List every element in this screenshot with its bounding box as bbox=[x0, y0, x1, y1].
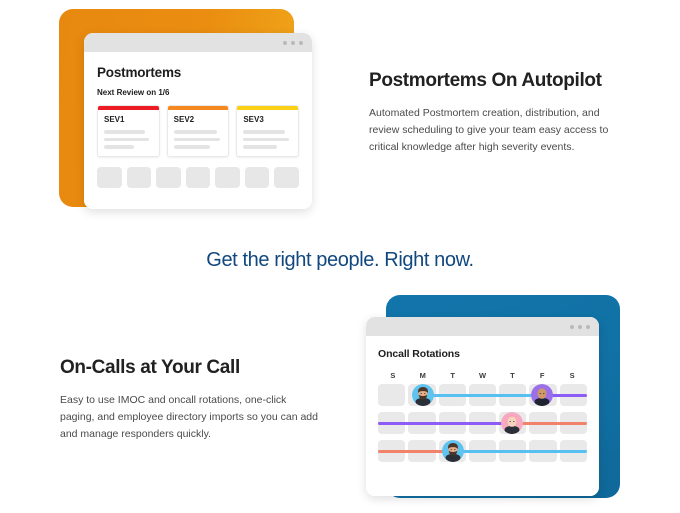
postmortem-tile[interactable] bbox=[186, 167, 211, 188]
severity-placeholder-lines-sev3 bbox=[237, 130, 298, 156]
window-dots-icon bbox=[570, 325, 590, 329]
rotation-bar-1-1[interactable] bbox=[424, 394, 541, 398]
postmortem-tile[interactable] bbox=[156, 167, 181, 188]
severity-label-sev2: SEV2 bbox=[168, 110, 229, 126]
oncall-cell[interactable] bbox=[378, 384, 405, 406]
postmortems-tile-row bbox=[97, 167, 299, 190]
window-chrome-bar bbox=[84, 33, 312, 52]
oncall-day-label-1: M bbox=[408, 371, 438, 380]
severity-column-list: SEV1 SEV2 bbox=[97, 105, 299, 157]
severity-placeholder-lines-sev2 bbox=[168, 130, 229, 156]
postmortems-heading: Postmortems On Autopilot bbox=[369, 70, 619, 93]
postmortems-window-body: Postmortems Next Review on 1/6 SEV1 bbox=[84, 52, 312, 209]
severity-card-sev2[interactable]: SEV2 bbox=[167, 105, 230, 157]
postmortem-tile[interactable] bbox=[127, 167, 152, 188]
avatar-beard-blue[interactable] bbox=[412, 384, 434, 406]
window-dots-icon bbox=[283, 41, 303, 45]
rotation-bar-2-2[interactable] bbox=[512, 422, 587, 426]
oncall-day-label-3: W bbox=[468, 371, 498, 380]
section-headline: Get the right people. Right now. bbox=[0, 249, 680, 272]
severity-card-sev1[interactable]: SEV1 bbox=[97, 105, 160, 157]
oncall-heading: On-Calls at Your Call bbox=[60, 357, 318, 380]
postmortems-window-mock: Postmortems Next Review on 1/6 SEV1 bbox=[84, 33, 312, 209]
oncall-copy-block: On-Calls at Your Call Easy to use IMOC a… bbox=[60, 357, 318, 443]
severity-label-sev1: SEV1 bbox=[98, 110, 159, 126]
window-chrome-bar bbox=[366, 317, 599, 336]
postmortem-tile[interactable] bbox=[245, 167, 270, 188]
postmortem-tile[interactable] bbox=[215, 167, 240, 188]
oncall-day-label-4: T bbox=[497, 371, 527, 380]
oncall-day-header-row: SMTWTFS bbox=[378, 371, 587, 380]
rotation-row-1 bbox=[378, 384, 587, 406]
oncall-day-label-0: S bbox=[378, 371, 408, 380]
postmortems-copy-block: Postmortems On Autopilot Automated Postm… bbox=[369, 70, 619, 156]
avatar-beard-blue[interactable] bbox=[442, 440, 464, 462]
severity-placeholder-lines-sev1 bbox=[98, 130, 159, 156]
severity-card-sev3[interactable]: SEV3 bbox=[236, 105, 299, 157]
rotation-row-3 bbox=[378, 440, 587, 462]
severity-label-sev3: SEV3 bbox=[237, 110, 298, 126]
rotation-row-2 bbox=[378, 412, 587, 434]
postmortem-tile[interactable] bbox=[97, 167, 122, 188]
oncall-day-label-6: S bbox=[557, 371, 587, 380]
postmortems-body-text: Automated Postmortem creation, distribut… bbox=[369, 105, 619, 156]
postmortems-next-review-label: Next Review on 1/6 bbox=[97, 88, 299, 97]
oncall-body-text: Easy to use IMOC and oncall rotations, o… bbox=[60, 392, 318, 443]
rotation-bar-3-2[interactable] bbox=[453, 450, 587, 454]
oncall-day-label-5: F bbox=[527, 371, 557, 380]
oncall-rotation-grid bbox=[378, 384, 587, 462]
marketing-feature-page: Postmortems Next Review on 1/6 SEV1 bbox=[0, 0, 680, 513]
oncall-window-mock: Oncall Rotations SMTWTFS bbox=[366, 317, 599, 496]
oncall-window-body: Oncall Rotations SMTWTFS bbox=[366, 336, 599, 496]
postmortem-tile[interactable] bbox=[274, 167, 299, 188]
oncall-card-title: Oncall Rotations bbox=[378, 348, 587, 360]
oncall-day-label-2: T bbox=[438, 371, 468, 380]
postmortems-card-title: Postmortems bbox=[97, 65, 299, 80]
rotation-bar-2-1[interactable] bbox=[378, 422, 512, 426]
